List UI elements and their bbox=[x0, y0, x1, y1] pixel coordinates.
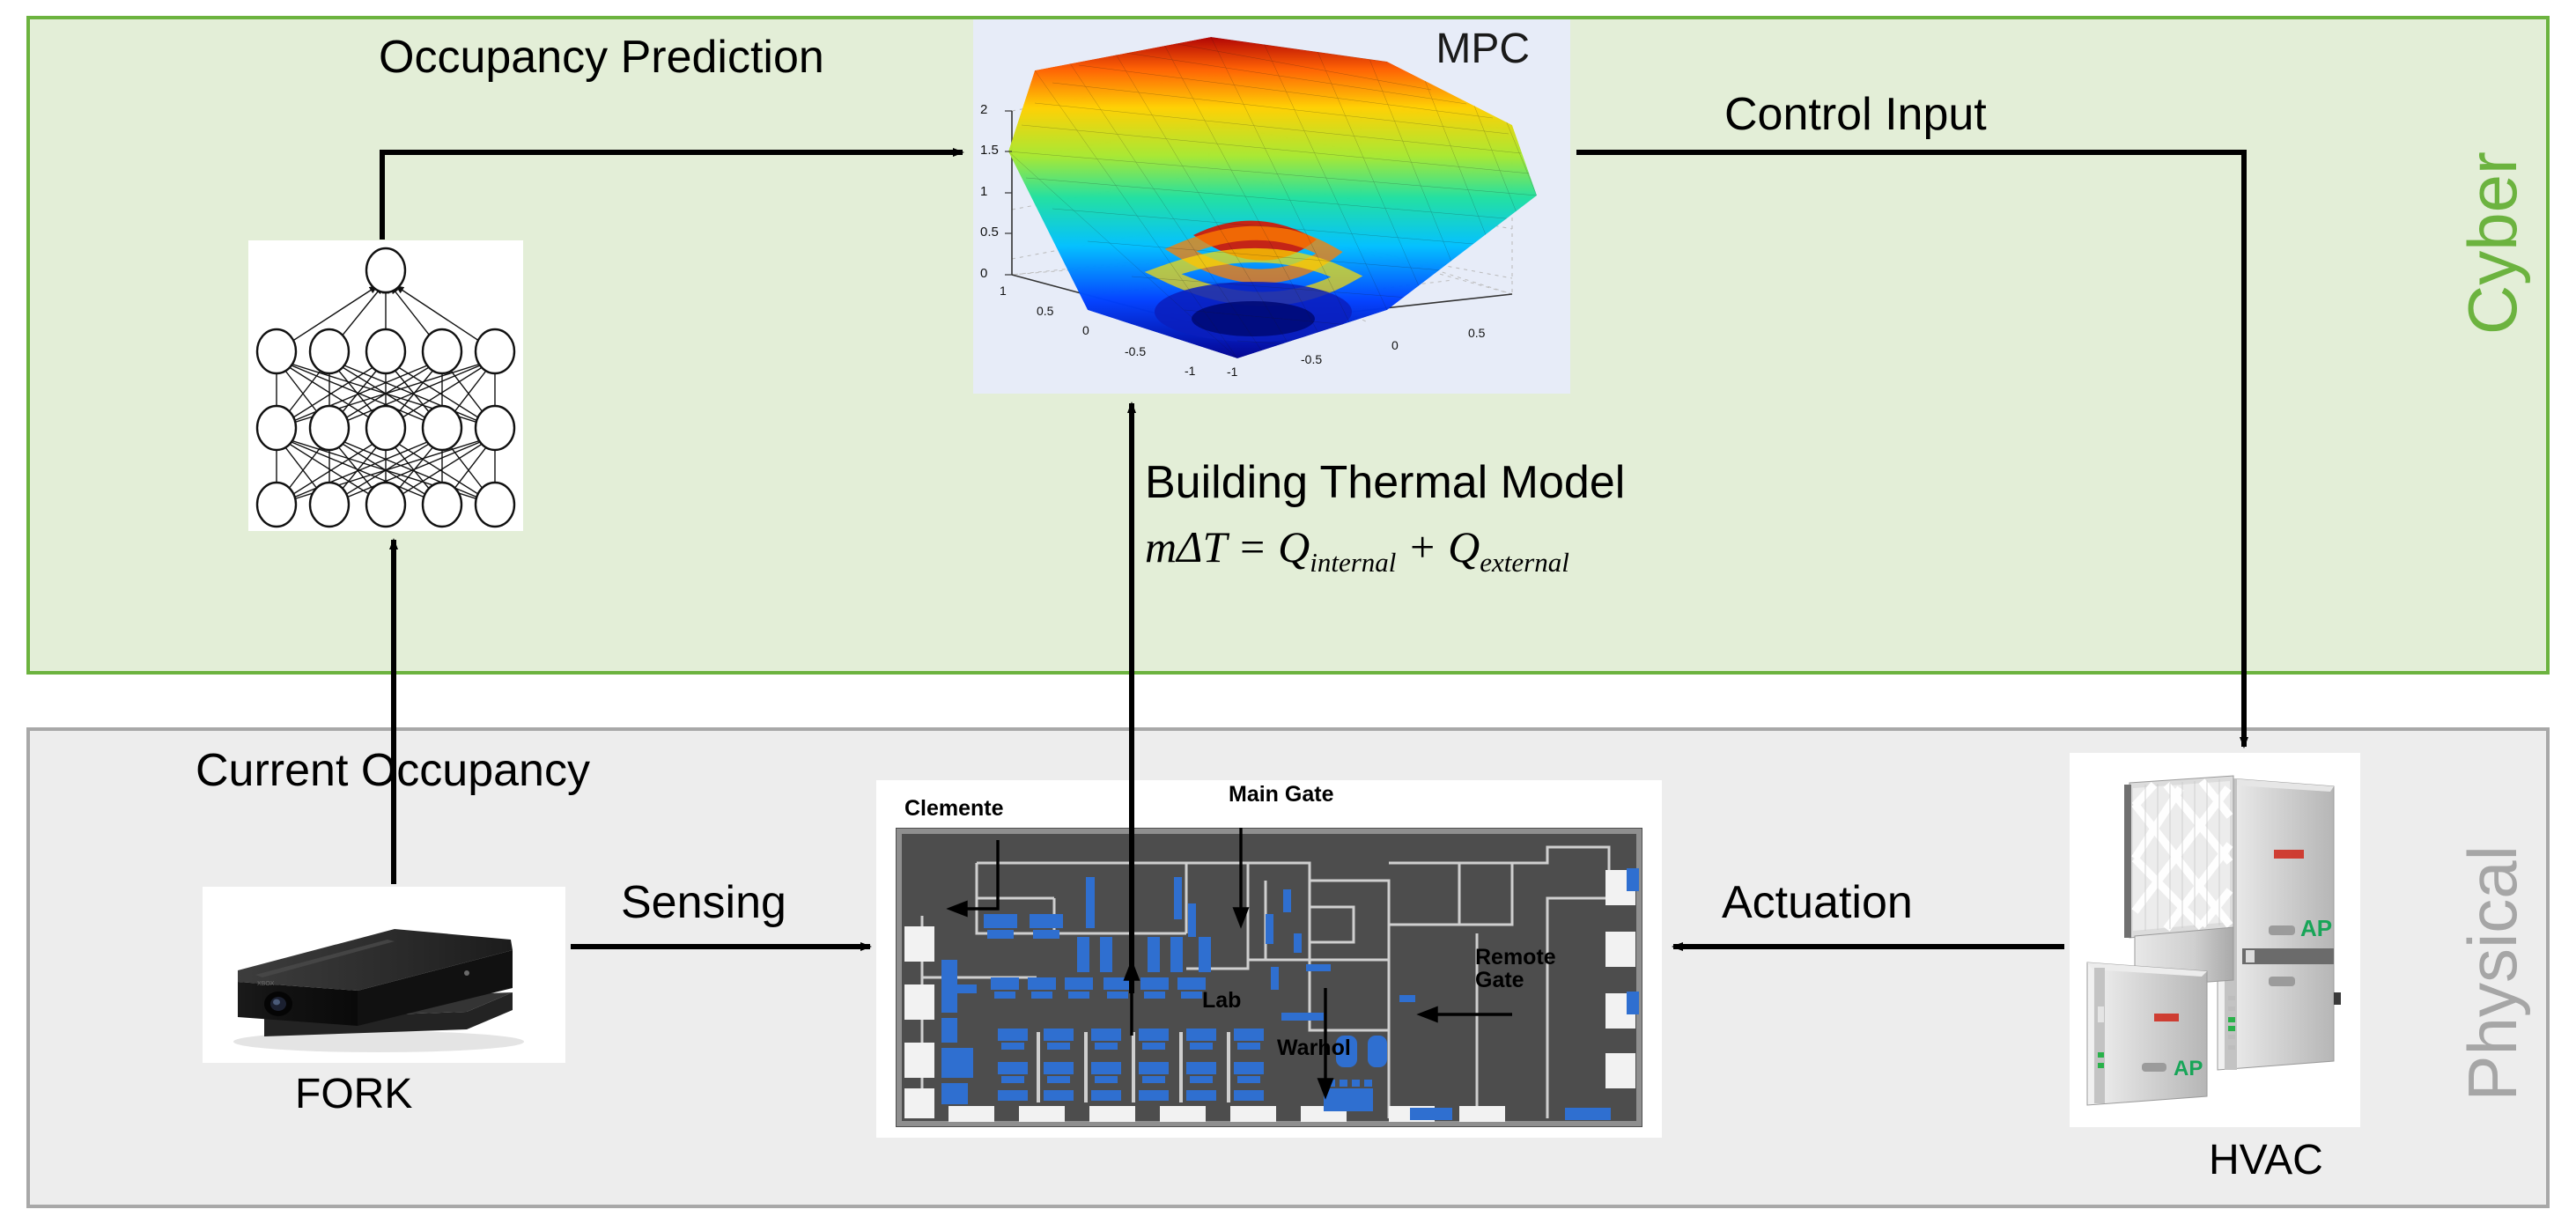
mpc-ytick-neg0-5: -0.5 bbox=[1125, 344, 1146, 358]
svg-text:AP: AP bbox=[2174, 1057, 2203, 1080]
mpc-ytick-neg1: -1 bbox=[1185, 364, 1195, 378]
label-control-input: Control Input bbox=[1724, 88, 1987, 141]
mpc-ytick-1: 1 bbox=[1000, 284, 1007, 298]
mpc-ztick-0: 0 bbox=[980, 266, 987, 281]
equation-lhs: mΔT bbox=[1145, 522, 1226, 571]
remote-gate-line2: Gate bbox=[1475, 969, 1556, 992]
remote-gate-line1: Remote bbox=[1475, 946, 1556, 969]
building-thermal-model-equation: mΔT = Qinternal + Qexternal bbox=[1145, 521, 1625, 579]
mpc-surface-plot: MPC bbox=[973, 19, 1570, 394]
kinect-sensor-icon: XBOX bbox=[203, 887, 565, 1063]
hvac-unit-icon: AP bbox=[2070, 753, 2360, 1127]
mpc-ztick-1: 1 bbox=[980, 184, 987, 199]
floorplan-label-remote-gate: Remote Gate bbox=[1475, 946, 1556, 992]
label-actuation: Actuation bbox=[1722, 876, 1913, 929]
caption-fork: FORK bbox=[295, 1070, 412, 1118]
floorplan-label-clemente: Clemente bbox=[904, 796, 1004, 822]
mpc-xtick-0: 0 bbox=[1391, 338, 1399, 352]
label-occupancy-prediction: Occupancy Prediction bbox=[379, 31, 824, 84]
floorplan-label-lab: Lab bbox=[1202, 988, 1241, 1014]
building-thermal-model-block: Building Thermal Model mΔT = Qinternal +… bbox=[1145, 456, 1625, 579]
kinect-sensor-svg: XBOX bbox=[203, 887, 565, 1063]
label-sensing: Sensing bbox=[621, 876, 786, 929]
equation-term1: Qinternal bbox=[1278, 522, 1396, 571]
floorplan-label-main-gate: Main Gate bbox=[1229, 782, 1333, 807]
mpc-ztick-0-5: 0.5 bbox=[980, 225, 999, 240]
hvac-unit-svg: AP bbox=[2070, 753, 2360, 1127]
mpc-ztick-1-5: 1.5 bbox=[980, 143, 999, 158]
mpc-plot-title: MPC bbox=[1436, 25, 1530, 73]
equation-plus: + bbox=[1407, 522, 1437, 571]
neural-network-icon bbox=[248, 240, 523, 531]
physical-zone-label: Physical bbox=[2458, 845, 2527, 1101]
floorplan-image: Clemente Main Gate Lab Remote Gate Warho… bbox=[876, 780, 1662, 1138]
equation-equals: = bbox=[1237, 522, 1267, 571]
mpc-xtick-0-5: 0.5 bbox=[1468, 326, 1485, 340]
equation-term2-symbol: Q bbox=[1448, 522, 1480, 571]
svg-text:XBOX: XBOX bbox=[257, 981, 275, 987]
cyber-zone-label: Cyber bbox=[2458, 151, 2527, 335]
equation-term2: Qexternal bbox=[1448, 522, 1569, 571]
svg-text:AP: AP bbox=[2300, 915, 2332, 941]
label-building-thermal-model: Building Thermal Model bbox=[1145, 456, 1625, 509]
mpc-ztick-2: 2 bbox=[980, 102, 987, 117]
mpc-ytick-0: 0 bbox=[1082, 323, 1089, 337]
diagram-canvas: Cyber Physical bbox=[0, 0, 2576, 1224]
equation-term2-sub: external bbox=[1480, 547, 1569, 578]
label-current-occupancy: Current Occupancy bbox=[196, 744, 590, 797]
caption-hvac: HVAC bbox=[2209, 1136, 2323, 1184]
equation-term1-sub: internal bbox=[1310, 547, 1396, 578]
equation-term1-symbol: Q bbox=[1278, 522, 1310, 571]
mpc-xtick-neg0-5: -0.5 bbox=[1301, 352, 1322, 366]
floorplan-label-warhol: Warhol bbox=[1277, 1036, 1351, 1061]
mpc-xtick-neg1: -1 bbox=[1227, 365, 1237, 379]
neural-network-svg bbox=[248, 240, 523, 531]
mpc-ytick-0-5: 0.5 bbox=[1037, 304, 1053, 318]
